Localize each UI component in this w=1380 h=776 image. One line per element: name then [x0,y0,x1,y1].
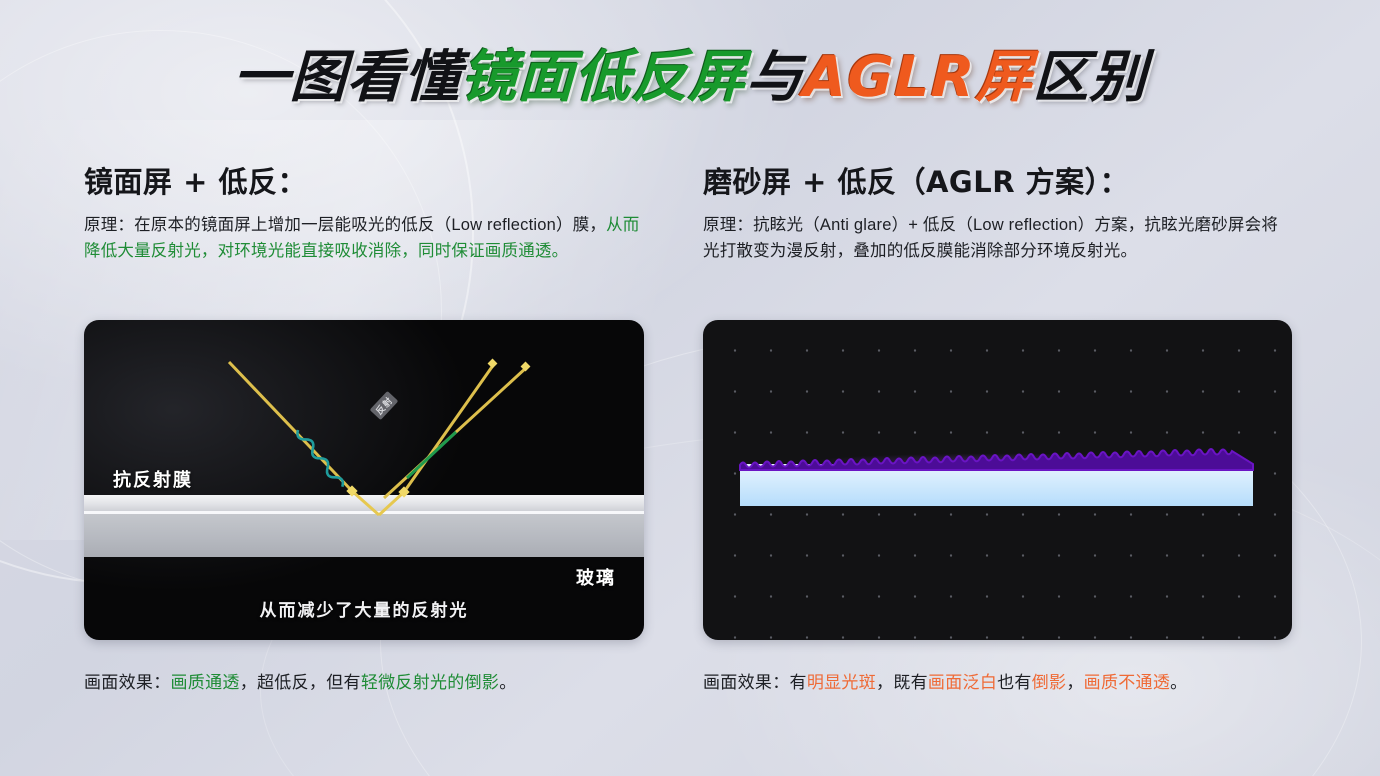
left-diagram-film-label: 抗反射膜 [113,466,193,492]
page-title: 一图看懂镜面低反屏与AGLR屏区别 [0,50,1380,106]
right-caption-tail: 。 [1170,673,1187,692]
left-diagram-glass-label: 玻璃 [576,564,616,590]
left-description-lead: 原理：在原本的镜面屏上增加一层能吸光的低反（Low reflection）膜， [84,216,606,234]
left-caption: 画面效果：画质通透，超低反，但有轻微反射光的倒影。 [84,668,517,693]
left-caption-highlight-1: 画质通透 [171,673,240,692]
right-column-description: 原理：抗眩光（Anti glare）+ 低反（Low reflection）方案… [703,213,1292,264]
right-column: 磨砂屏 + 低反（AGLR 方案）： 原理：抗眩光（Anti glare）+ 低… [703,166,1292,264]
right-caption-lead: 画面效果：有 [703,673,807,692]
right-caption: 画面效果：有明显光斑，既有画面泛白也有倒影，画质不通透。 [703,668,1187,693]
title-segment-6: 区别 [1032,50,1148,106]
left-column-heading: 镜面屏 + 低反： [84,166,644,199]
right-caption-highlight-4: 画质不通透 [1084,673,1171,692]
slide-canvas: 一图看懂镜面低反屏与AGLR屏区别 镜面屏 + 低反： 原理：在原本的镜面屏上增… [0,0,1380,776]
anti-glare-rough-surface [740,448,1253,470]
left-caption-mid: ，超低反，但有 [240,673,361,692]
right-caption-mid-1: ，既有 [876,673,928,692]
title-segment-5: 屏 [975,50,1034,106]
title-segment-3: 与 [745,50,804,106]
title-segment-4: AGLR [802,50,976,106]
title-segment-1: 一图看懂 [232,50,462,106]
right-caption-mid-3: ， [1066,673,1083,692]
left-caption-tail: 。 [499,673,516,692]
left-column: 镜面屏 + 低反： 原理：在原本的镜面屏上增加一层能吸光的低反（Low refl… [84,166,644,264]
left-column-description: 原理：在原本的镜面屏上增加一层能吸光的低反（Low reflection）膜，从… [84,213,644,264]
left-caption-highlight-2: 轻微反射光的倒影 [361,673,499,692]
left-diagram-bottom-label: 从而减少了大量的反射光 [84,596,644,621]
right-caption-highlight-2: 画面泛白 [928,673,997,692]
title-segment-2: 镜面低反屏 [460,50,747,106]
right-caption-highlight-3: 倒影 [1032,673,1067,692]
left-caption-lead: 画面效果： [84,673,171,692]
right-caption-mid-2: 也有 [997,673,1032,692]
left-diagram-panel: 抗反射膜 玻璃 从而减少了大量的反射光 [84,320,644,640]
right-diagram-panel [703,320,1292,640]
right-column-heading: 磨砂屏 + 低反（AGLR 方案）： [703,166,1292,199]
right-caption-highlight-1: 明显光斑 [807,673,876,692]
